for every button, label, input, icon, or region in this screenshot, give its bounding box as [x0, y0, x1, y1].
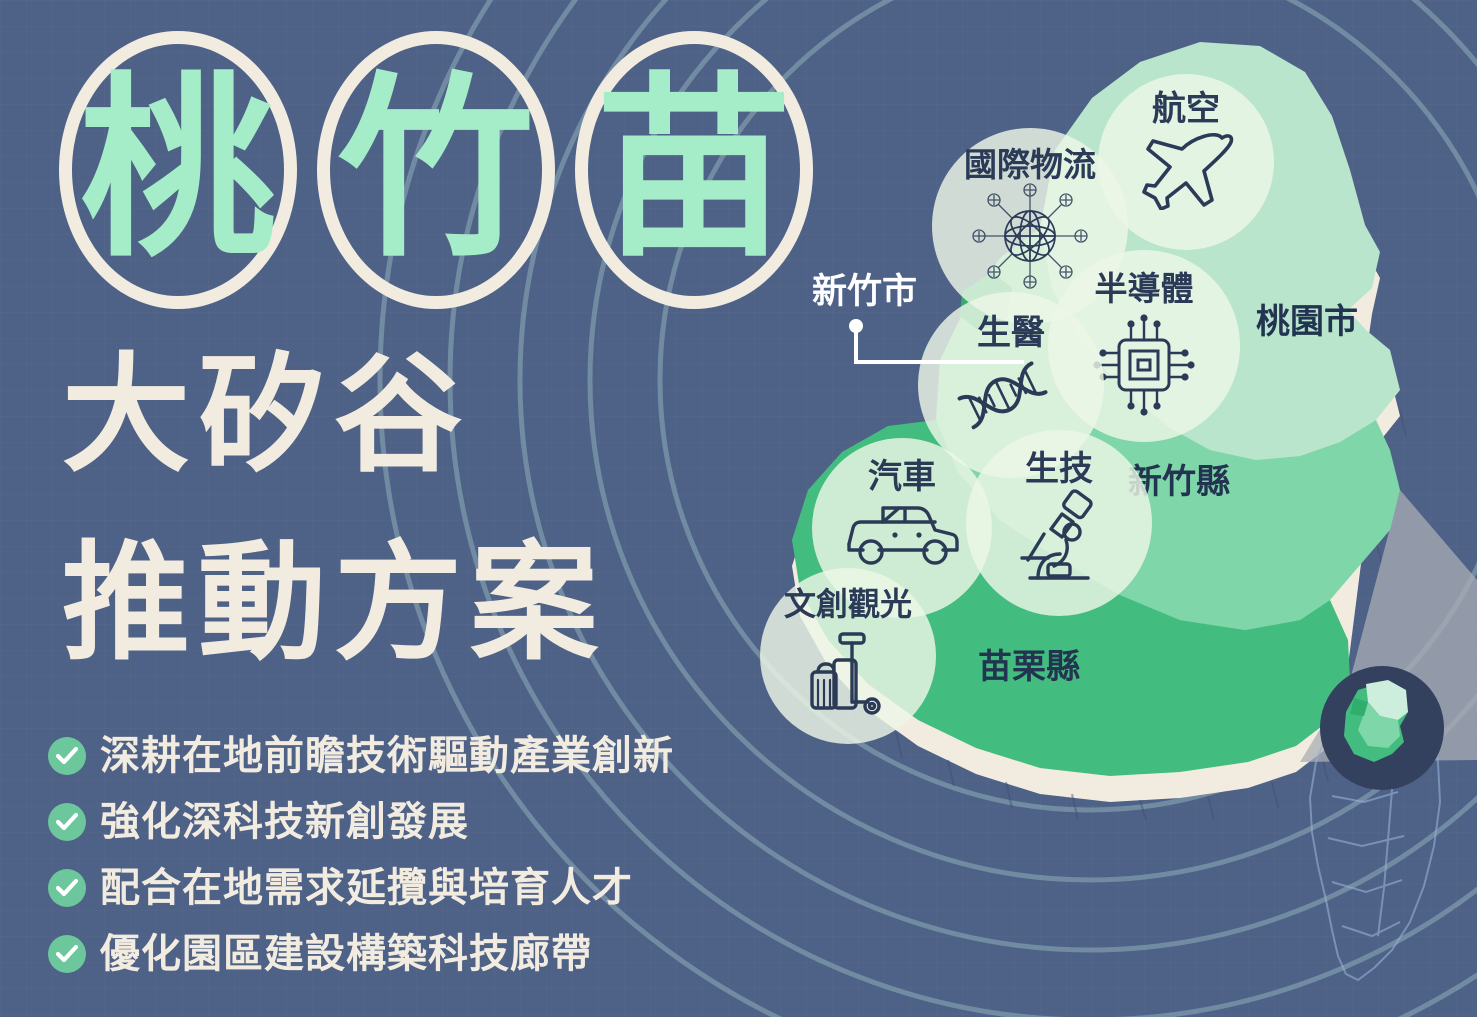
title-badge-row: 桃 竹 苗 — [52, 26, 820, 314]
title-badge-2: 竹 — [310, 26, 562, 314]
microchip-icon — [1086, 309, 1202, 421]
bullet-list: 深耕在地前瞻技術驅動產業創新 強化深科技新創發展 配合在地需求延攬與培育人才 — [48, 724, 768, 988]
hub-label-semiconductor: 半導體 — [1095, 272, 1194, 305]
title-badge-3: 苗 — [568, 26, 820, 314]
headline-line-2: 推動方案 — [62, 540, 606, 668]
bullet-item-3: 配合在地需求延攬與培育人才 — [48, 856, 768, 919]
region-label-taoyuan: 桃園市 — [1256, 305, 1358, 339]
region-label-miaoli: 苗栗縣 — [978, 650, 1080, 684]
title-char-1: 桃 — [80, 72, 276, 268]
hub-label-aviation: 航空 — [1152, 92, 1220, 126]
bullet-item-2: 強化深科技新創發展 — [48, 790, 768, 853]
global-network-icon — [967, 183, 1093, 289]
left-content-column: 桃 竹 苗 大矽谷 推動方案 深耕在地前瞻技術驅動產業創新 — [0, 0, 780, 1017]
callout-leader-line — [848, 318, 1028, 384]
check-icon — [48, 935, 86, 973]
check-icon — [48, 869, 86, 907]
callout-label-hsinchu-city: 新竹市 — [812, 275, 917, 310]
hub-tourism[interactable]: 文創觀光 — [760, 568, 936, 744]
bullet-item-1: 深耕在地前瞻技術驅動產業創新 — [48, 724, 768, 787]
bullet-text-1: 深耕在地前瞻技術驅動產業創新 — [100, 736, 674, 776]
infographic-poster: 桃園市 新竹縣 苗栗縣 航空 國際物流 — [0, 0, 1477, 1017]
hub-biotech[interactable]: 生技 — [966, 430, 1152, 616]
title-char-2: 竹 — [338, 72, 534, 268]
bullet-text-2: 強化深科技新創發展 — [100, 802, 469, 842]
title-char-3: 苗 — [596, 72, 792, 268]
hub-label-automotive: 汽車 — [868, 460, 936, 494]
taiwan-locator-inset — [1288, 650, 1477, 1010]
hub-label-biotech: 生技 — [1025, 452, 1093, 486]
bullet-text-4: 優化園區建設構築科技廊帶 — [100, 934, 592, 974]
check-icon — [48, 737, 86, 775]
luggage-icon — [796, 622, 900, 722]
check-icon — [48, 803, 86, 841]
hub-label-tourism: 文創觀光 — [784, 588, 912, 620]
microscope-icon — [1004, 488, 1114, 594]
car-icon — [843, 500, 961, 576]
title-badge-1: 桃 — [52, 26, 304, 314]
bullet-item-4: 優化園區建設構築科技廊帶 — [48, 922, 768, 985]
inset-highlight-badge — [1320, 666, 1444, 790]
headline-line-1: 大矽谷 — [62, 352, 470, 480]
hub-label-logistics: 國際物流 — [964, 148, 1096, 181]
bullet-text-3: 配合在地需求延攬與培育人才 — [100, 868, 633, 908]
airplane-icon — [1134, 130, 1238, 210]
